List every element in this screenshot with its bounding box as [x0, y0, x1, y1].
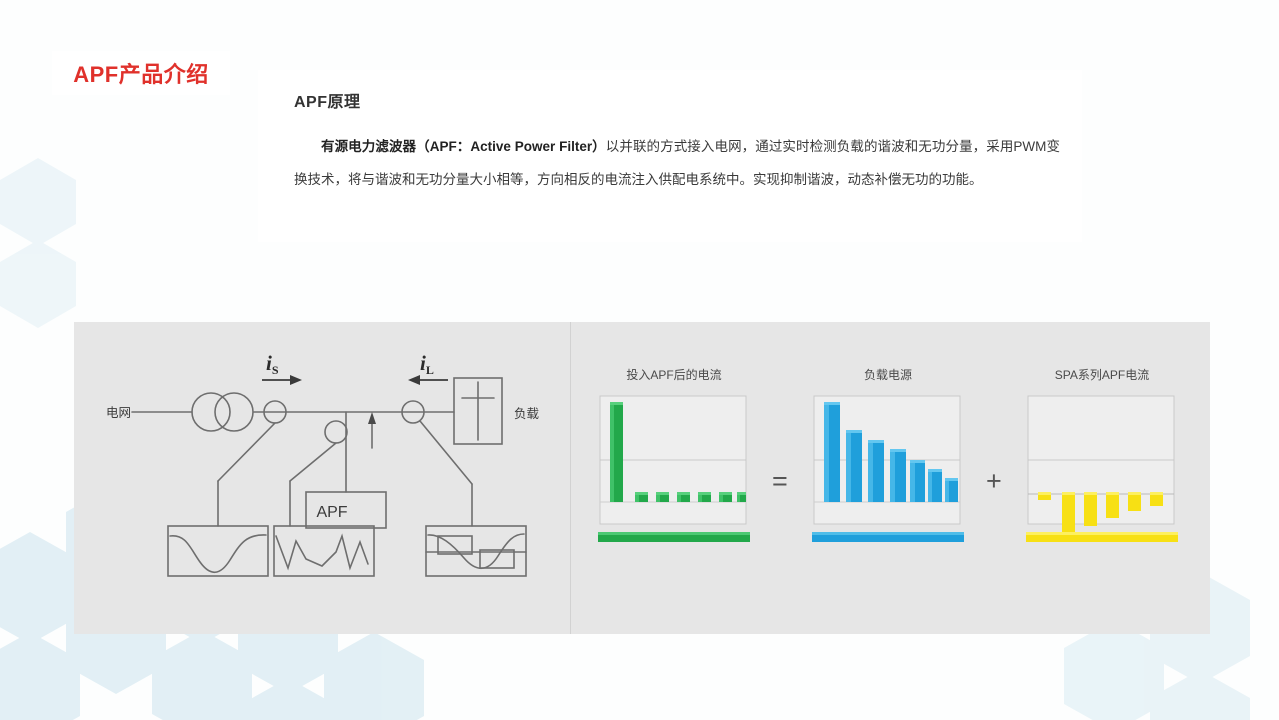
chart-block-spa-apf: SPA系列APF电流	[1022, 366, 1182, 562]
principle-heading: APF原理	[294, 88, 1060, 112]
bar-chart-after-apf	[594, 392, 754, 557]
chart-block-after-apf: 投入APF后的电流	[594, 366, 754, 562]
chart-frame-spa-apf	[1022, 392, 1182, 562]
circuit-il-label: iL	[420, 351, 434, 377]
charts-area: 投入APF后的电流	[594, 366, 1194, 586]
circuit-load-label: 负载	[514, 407, 540, 421]
circuit-schematic: 电网 负载 APF iS iL	[84, 336, 574, 616]
chart-title-load-source: 负载电源	[808, 366, 968, 383]
chart-title-spa-apf: SPA系列APF电流	[1022, 366, 1182, 383]
principle-body: 有源电力滤波器（APF：Active Power Filter）以并联的方式接入…	[294, 130, 1060, 196]
operator-equals: =	[772, 466, 788, 497]
diagram-panel: 电网 负载 APF iS iL 投入APF后的电流	[74, 322, 1210, 634]
circuit-apf-label: APF	[316, 504, 347, 521]
principle-body-lead: 有源电力滤波器（APF：Active Power Filter）	[321, 139, 606, 154]
chart-frame-load-source	[808, 392, 968, 562]
principle-card: APF原理 有源电力滤波器（APF：Active Power Filter）以并…	[258, 70, 1082, 242]
chart-frame-after-apf	[594, 392, 754, 562]
circuit-grid-label: 电网	[106, 406, 131, 420]
bar-chart-load-source	[808, 392, 968, 557]
bar-chart-spa-apf	[1022, 392, 1182, 557]
operator-plus: +	[986, 466, 1002, 497]
circuit-is-label: iS	[266, 351, 279, 377]
section-title-chip: APF产品介绍	[52, 51, 230, 95]
section-title-text: APF产品介绍	[73, 57, 209, 89]
chart-title-after-apf: 投入APF后的电流	[594, 366, 754, 383]
chart-block-load-source: 负载电源	[808, 366, 968, 562]
